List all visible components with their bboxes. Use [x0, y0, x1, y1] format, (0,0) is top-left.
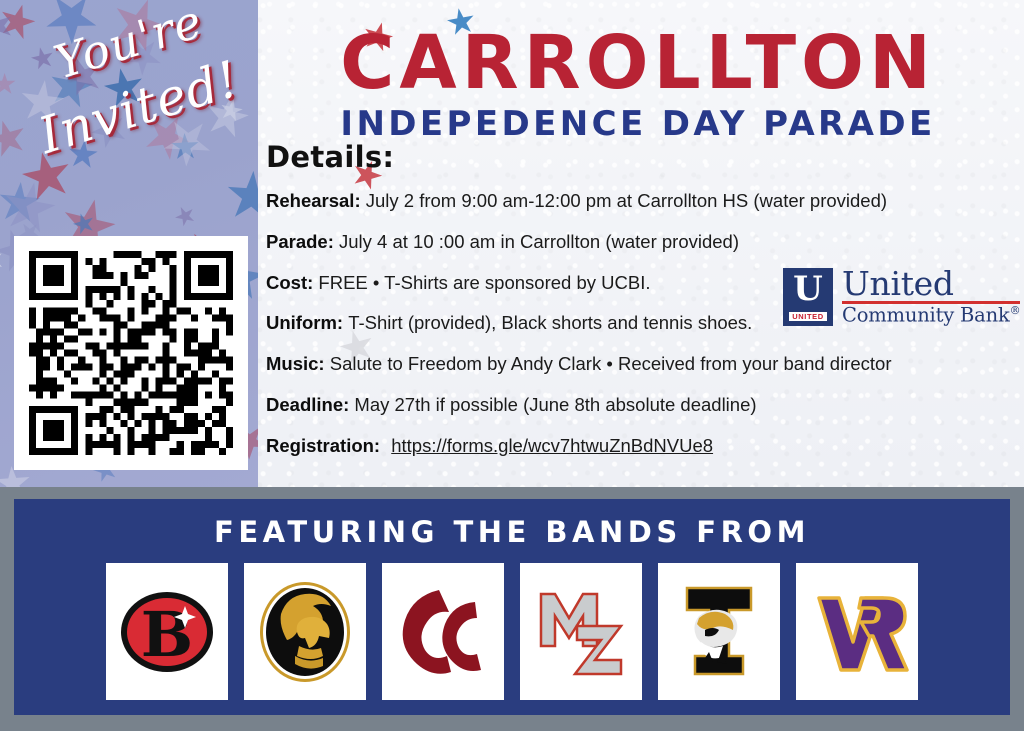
detail-label: Music: [266, 353, 330, 374]
school-logo-tile [520, 563, 642, 700]
school-logo-tile: B [106, 563, 228, 700]
confetti-star [28, 45, 56, 73]
details-heading: Details: [266, 140, 394, 174]
school-logo-tile [382, 563, 504, 700]
confetti-star [62, 134, 104, 176]
confetti-star [216, 161, 258, 233]
central-cc-logo [389, 572, 497, 692]
registration-qr-code[interactable] [14, 236, 248, 470]
school-logo-strip: B [106, 563, 918, 700]
temple-tiger-t-logo [665, 572, 773, 692]
detail-row: Music: Salute to Freedom by Andy Clark •… [266, 353, 1014, 374]
mount-zion-mz-logo [527, 572, 635, 692]
ucb-registered-mark: ® [1010, 304, 1021, 317]
featured-bands-band: FEATURING THE BANDS FROM B [0, 487, 1024, 731]
registration-link[interactable]: https://forms.gle/wcv7htwuZnBdNVUe8 [391, 435, 713, 456]
detail-label: Rehearsal: [266, 190, 366, 211]
detail-row: Rehearsal: July 2 from 9:00 am-12:00 pm … [266, 190, 1014, 211]
page-subtitle: INDEPEDENCE DAY PARADE [262, 104, 1014, 144]
confetti-star [101, 65, 148, 112]
detail-value: T-Shirt (provided), Black shorts and ten… [348, 312, 752, 333]
detail-label: Uniform: [266, 312, 348, 333]
confetti-star [0, 112, 34, 165]
ucb-wordmark: United Community Bank® [842, 268, 1020, 326]
confetti-star [38, 0, 104, 52]
ucb-u-letter: U [793, 272, 823, 306]
detail-label: Cost: [266, 272, 318, 293]
trojan-head-logo [251, 572, 359, 692]
ucb-word-community-bank: Community Bank® [842, 305, 1020, 326]
page-title: CARROLLTON [262, 28, 1014, 99]
detail-value: July 4 at 10 :00 am in Carrollton (water… [339, 231, 739, 252]
confetti-star [0, 69, 21, 101]
featured-bands-panel: FEATURING THE BANDS FROM B [14, 499, 1010, 715]
ucb-community-bank-text: Community Bank [842, 303, 1010, 326]
parade-invitation-flyer: You're Invited! CARROLLTON INDEPEDENCE D… [0, 0, 1024, 731]
ucb-united-badge: UNITED [789, 312, 827, 322]
ucb-word-united: United [842, 268, 1020, 299]
detail-value: Salute to Freedom by Andy Clark • Receiv… [330, 353, 892, 374]
featured-bands-title: FEATURING THE BANDS FROM [214, 515, 810, 549]
villa-rica-vr-logo [803, 572, 911, 692]
confetti-star [0, 0, 42, 47]
confetti-star [17, 78, 66, 127]
detail-label: Registration: [266, 435, 385, 456]
united-community-bank-logo: U UNITED United Community Bank® [783, 268, 1015, 330]
school-logo-tile [658, 563, 780, 700]
school-logo-tile [796, 563, 918, 700]
detail-label: Deadline: [266, 394, 354, 415]
school-logo-tile [244, 563, 366, 700]
detail-row: Registration: https://forms.gle/wcv7htwu… [266, 435, 1014, 456]
ucb-mark-icon: U UNITED [783, 268, 833, 326]
detail-value: July 2 from 9:00 am-12:00 pm at Carrollt… [366, 190, 887, 211]
qr-code-image [29, 251, 233, 455]
detail-value: FREE • T-Shirts are sponsored by UCBI. [318, 272, 650, 293]
detail-label: Parade: [266, 231, 339, 252]
confetti-star [201, 91, 253, 143]
details-list: Rehearsal: July 2 from 9:00 am-12:00 pm … [266, 190, 1014, 475]
bowdon-b-logo: B [113, 572, 221, 692]
detail-value: May 27th if possible (June 8th absolute … [354, 394, 756, 415]
confetti-star [84, 105, 135, 156]
detail-row: Deadline: May 27th if possible (June 8th… [266, 394, 1014, 415]
detail-row: Parade: July 4 at 10 :00 am in Carrollto… [266, 231, 1014, 252]
confetti-star [172, 202, 199, 229]
